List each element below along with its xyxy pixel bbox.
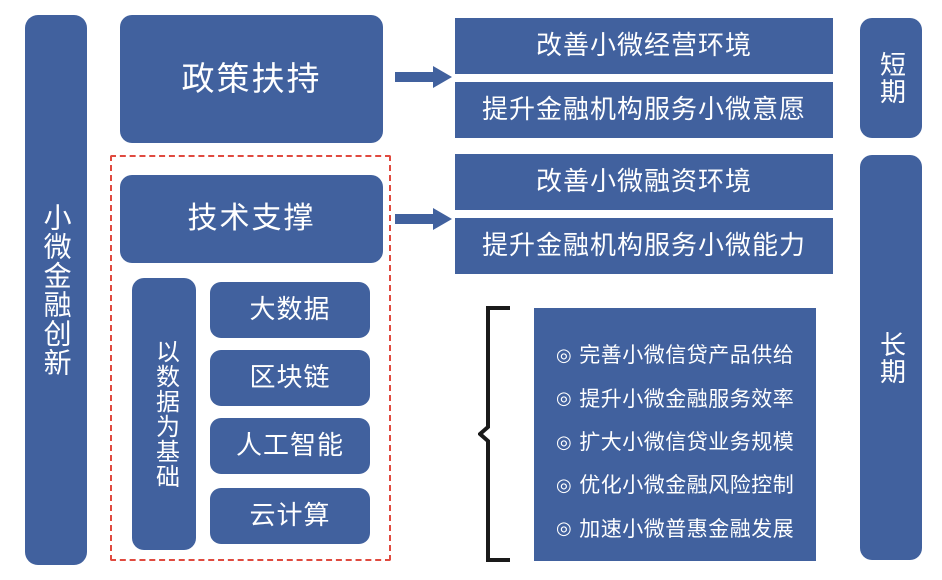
driver-box-policy: 政策扶持 — [120, 15, 383, 143]
driver-box-technology: 技术支撑 — [120, 175, 383, 263]
list-item: ◎ 加速小微普惠金融发展 — [556, 518, 816, 541]
driver-label-technology: 技术支撑 — [188, 202, 316, 236]
list-item-label: 扩大小微信贷业务规模 — [579, 431, 794, 454]
technology-label-ai: 人工智能 — [236, 431, 344, 460]
technology-label-blockchain: 区块链 — [249, 363, 330, 392]
technology-box-blockchain: 区块链 — [210, 350, 370, 406]
bullet-icon: ◎ — [556, 433, 572, 453]
term-label-short: 短期 — [876, 51, 905, 105]
driver-label-policy: 政策扶持 — [182, 61, 322, 98]
outcome-label-3: 提升金融机构服务小微能力 — [482, 231, 806, 260]
technology-label-cloud: 云计算 — [249, 501, 330, 530]
list-item-label: 加速小微普惠金融发展 — [579, 518, 794, 541]
diagram-canvas: 小微金融创新 政策扶持 技术支撑 以数据为基础 大数据 区块链 人工智能 云计算… — [0, 0, 942, 580]
list-item: ◎ 提升小微金融服务效率 — [556, 388, 816, 411]
term-label-long: 长期 — [876, 331, 905, 385]
root-concept-label: 小微金融创新 — [40, 203, 71, 377]
list-item: ◎ 优化小微金融风险控制 — [556, 474, 816, 497]
list-item: ◎ 完善小微信贷产品供给 — [556, 344, 816, 367]
bullet-icon: ◎ — [556, 389, 572, 409]
arrow-right-icon-technology — [395, 208, 452, 230]
outcome-label-0: 改善小微经营环境 — [536, 31, 752, 60]
technology-box-cloud: 云计算 — [210, 488, 370, 544]
list-item-label: 优化小微金融风险控制 — [579, 474, 794, 497]
outcome-box-3: 提升金融机构服务小微能力 — [455, 218, 833, 274]
foundation-label-data: 以数据为基础 — [151, 339, 178, 489]
outcome-box-2: 改善小微融资环境 — [455, 154, 833, 210]
root-concept-box: 小微金融创新 — [25, 15, 87, 565]
long-term-outcome-list: ◎ 完善小微信贷产品供给 ◎ 提升小微金融服务效率 ◎ 扩大小微信贷业务规模 ◎… — [534, 308, 816, 561]
technology-box-ai: 人工智能 — [210, 418, 370, 474]
term-box-short: 短期 — [860, 18, 922, 138]
outcome-box-0: 改善小微经营环境 — [455, 18, 833, 74]
foundation-box-data: 以数据为基础 — [132, 278, 196, 550]
arrow-right-icon-policy — [395, 66, 452, 88]
curly-brace-icon — [478, 305, 514, 563]
list-item: ◎ 扩大小微信贷业务规模 — [556, 431, 816, 454]
technology-box-bigdata: 大数据 — [210, 282, 370, 338]
bullet-icon: ◎ — [556, 476, 572, 496]
list-item-label: 完善小微信贷产品供给 — [579, 344, 794, 367]
bullet-icon: ◎ — [556, 346, 572, 366]
bullet-icon: ◎ — [556, 519, 572, 539]
technology-label-bigdata: 大数据 — [249, 295, 330, 324]
outcome-label-1: 提升金融机构服务小微意愿 — [482, 95, 806, 124]
outcome-label-2: 改善小微融资环境 — [536, 167, 752, 196]
list-item-label: 提升小微金融服务效率 — [579, 388, 794, 411]
term-box-long: 长期 — [860, 155, 922, 560]
outcome-box-1: 提升金融机构服务小微意愿 — [455, 82, 833, 138]
